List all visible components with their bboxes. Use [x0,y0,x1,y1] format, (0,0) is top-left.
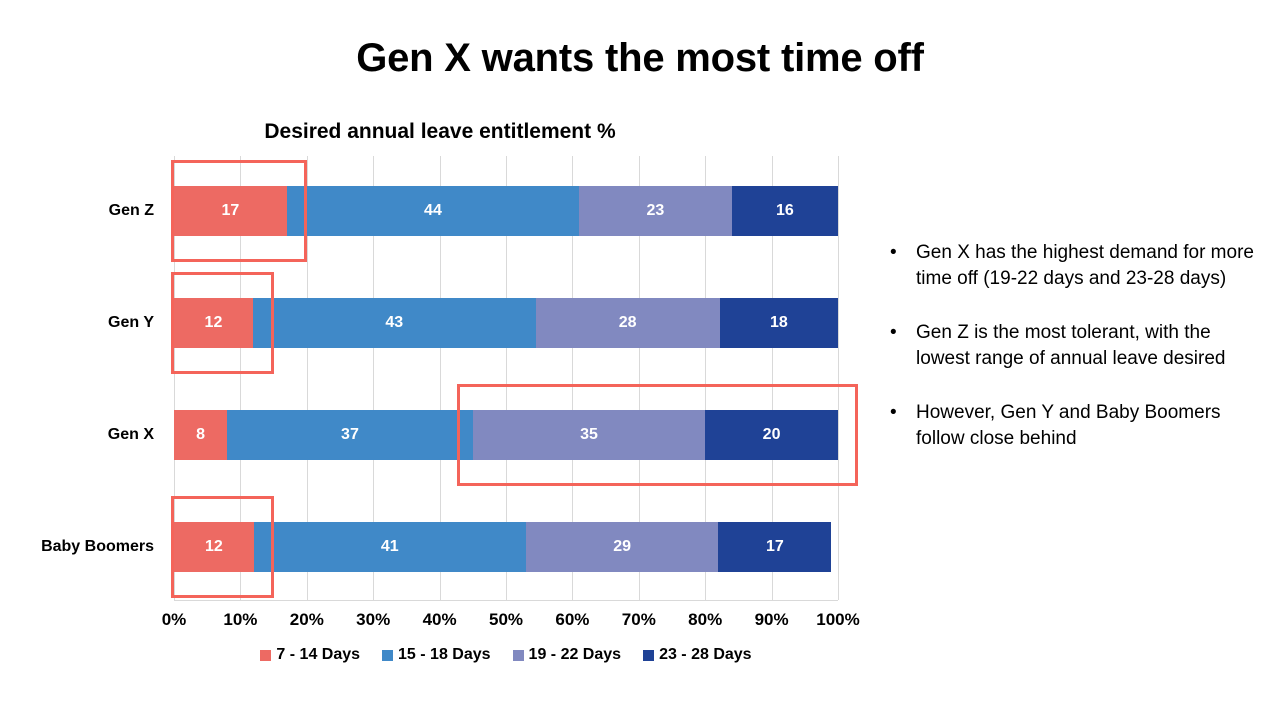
bar-value-label: 16 [776,202,794,220]
bullet-dot-icon: • [884,400,916,452]
bar-value-label: 44 [424,202,442,220]
bar-value-label: 17 [766,538,784,556]
bar-value-label: 28 [619,314,637,332]
list-item: •Gen X has the highest demand for more t… [884,240,1260,292]
bar-segment[interactable]: 8 [174,410,227,460]
chart-legend: 7 - 14 Days15 - 18 Days19 - 22 Days23 - … [174,642,838,668]
chart-container: Desired annual leave entitlement % Gen Z… [0,112,880,672]
gridline [838,156,839,600]
category-label-baby-boomers: Baby Boomers [0,522,154,572]
bar-value-label: 17 [222,202,240,220]
bar-segment[interactable]: 17 [174,186,287,236]
category-label-gen-z: Gen Z [0,186,154,236]
bar-segment[interactable]: 20 [705,410,838,460]
list-item: •However, Gen Y and Baby Boomers follow … [884,400,1260,452]
bar-segment[interactable]: 43 [253,298,536,348]
page-title: Gen X wants the most time off [0,32,1280,84]
stacked-bar: 12432818 [174,298,838,348]
bar-value-label: 29 [613,538,631,556]
legend-label: 19 - 22 Days [529,646,622,664]
x-tick-label: 100% [798,608,878,632]
legend-swatch-icon [260,650,271,661]
bar-value-label: 35 [580,426,598,444]
plot-area: Gen Z17442316Gen Y12432818Gen X8373520Ba… [174,156,838,600]
legend-item[interactable]: 7 - 14 Days [260,646,360,664]
bar-segment[interactable]: 44 [287,186,579,236]
stacked-bar: 8373520 [174,410,838,460]
bar-value-label: 20 [763,426,781,444]
list-item: •Gen Z is the most tolerant, with the lo… [884,320,1260,372]
legend-swatch-icon [643,650,654,661]
bar-row: Gen X8373520 [174,410,838,460]
bullet-dot-icon: • [884,240,916,292]
category-label-gen-y: Gen Y [0,298,154,348]
legend-swatch-icon [382,650,393,661]
bar-value-label: 12 [205,314,223,332]
legend-item[interactable]: 15 - 18 Days [382,646,491,664]
bar-row: Gen Z17442316 [174,186,838,236]
insights-list: •Gen X has the highest demand for more t… [884,240,1260,480]
category-label-gen-x: Gen X [0,410,154,460]
bar-value-label: 43 [385,314,403,332]
bullet-dot-icon: • [884,320,916,372]
bar-segment[interactable]: 23 [579,186,732,236]
bar-segment[interactable]: 17 [718,522,831,572]
bar-value-label: 37 [341,426,359,444]
legend-swatch-icon [513,650,524,661]
bar-segment[interactable]: 37 [227,410,473,460]
bar-segment[interactable]: 12 [174,298,253,348]
bar-segment[interactable]: 18 [720,298,838,348]
x-axis-line [174,600,838,601]
bar-segment[interactable]: 16 [732,186,838,236]
x-axis: 0%10%20%30%40%50%60%70%80%90%100% [174,608,838,632]
bar-segment[interactable]: 29 [526,522,719,572]
stacked-bar: 12412917 [174,522,838,572]
bullet-text: However, Gen Y and Baby Boomers follow c… [916,400,1260,452]
stacked-bar: 17442316 [174,186,838,236]
bullet-text: Gen Z is the most tolerant, with the low… [916,320,1260,372]
bar-row: Gen Y12432818 [174,298,838,348]
bar-value-label: 18 [770,314,788,332]
legend-label: 23 - 28 Days [659,646,752,664]
bar-row: Baby Boomers12412917 [174,522,838,572]
bar-segment[interactable]: 28 [536,298,720,348]
bar-value-label: 12 [205,538,223,556]
bar-segment[interactable]: 41 [254,522,526,572]
legend-label: 15 - 18 Days [398,646,491,664]
bar-value-label: 8 [196,426,205,444]
bar-segment[interactable]: 12 [174,522,254,572]
legend-item[interactable]: 19 - 22 Days [513,646,622,664]
bar-value-label: 41 [381,538,399,556]
bar-value-label: 23 [646,202,664,220]
legend-label: 7 - 14 Days [276,646,360,664]
bar-segment[interactable]: 35 [473,410,705,460]
chart-title: Desired annual leave entitlement % [0,118,880,146]
bullet-text: Gen X has the highest demand for more ti… [916,240,1260,292]
legend-item[interactable]: 23 - 28 Days [643,646,752,664]
